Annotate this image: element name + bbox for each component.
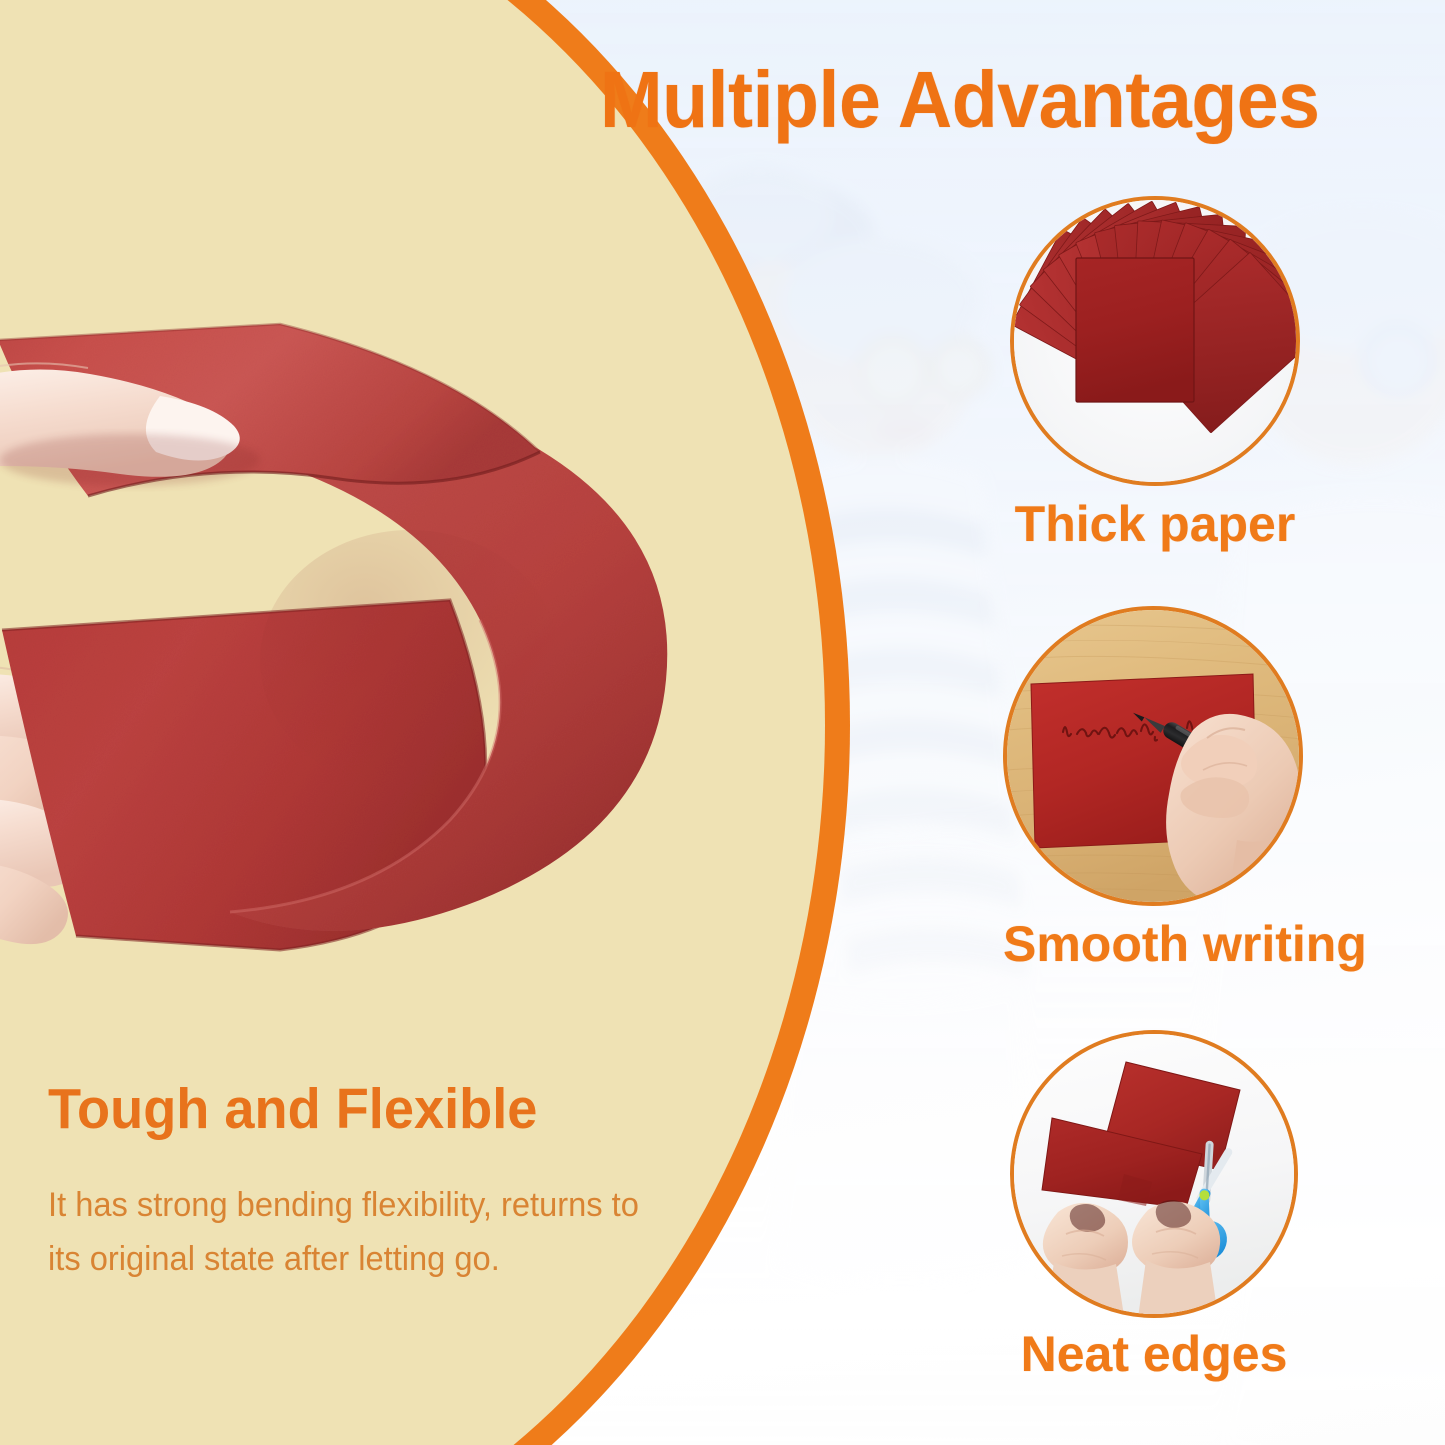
hero-heading: Tough and Flexible bbox=[48, 1078, 537, 1140]
feature-thick-paper-image bbox=[1010, 196, 1300, 486]
hero-description-line-2: its original state after letting go. bbox=[48, 1232, 720, 1286]
feature-smooth-writing-label: Smooth writing bbox=[1003, 916, 1303, 972]
hero-image-bent-cardstock bbox=[0, 300, 780, 1020]
hand-right bbox=[1132, 1200, 1220, 1316]
feature-neat-edges-label: Neat edges bbox=[1010, 1326, 1298, 1382]
feature-smooth-writing-image bbox=[1003, 606, 1303, 906]
hero-description-line-1: It has strong bending flexibility, retur… bbox=[48, 1178, 720, 1232]
hero-description: It has strong bending flexibility, retur… bbox=[48, 1178, 720, 1286]
front-sheet bbox=[1076, 258, 1194, 402]
infographic-canvas: Multiple Advantages Tough and Flexible I… bbox=[0, 0, 1445, 1445]
feature-thick-paper-label: Thick paper bbox=[1010, 496, 1300, 552]
page-title: Multiple Advantages bbox=[600, 58, 1380, 142]
feature-neat-edges-image bbox=[1010, 1030, 1298, 1318]
